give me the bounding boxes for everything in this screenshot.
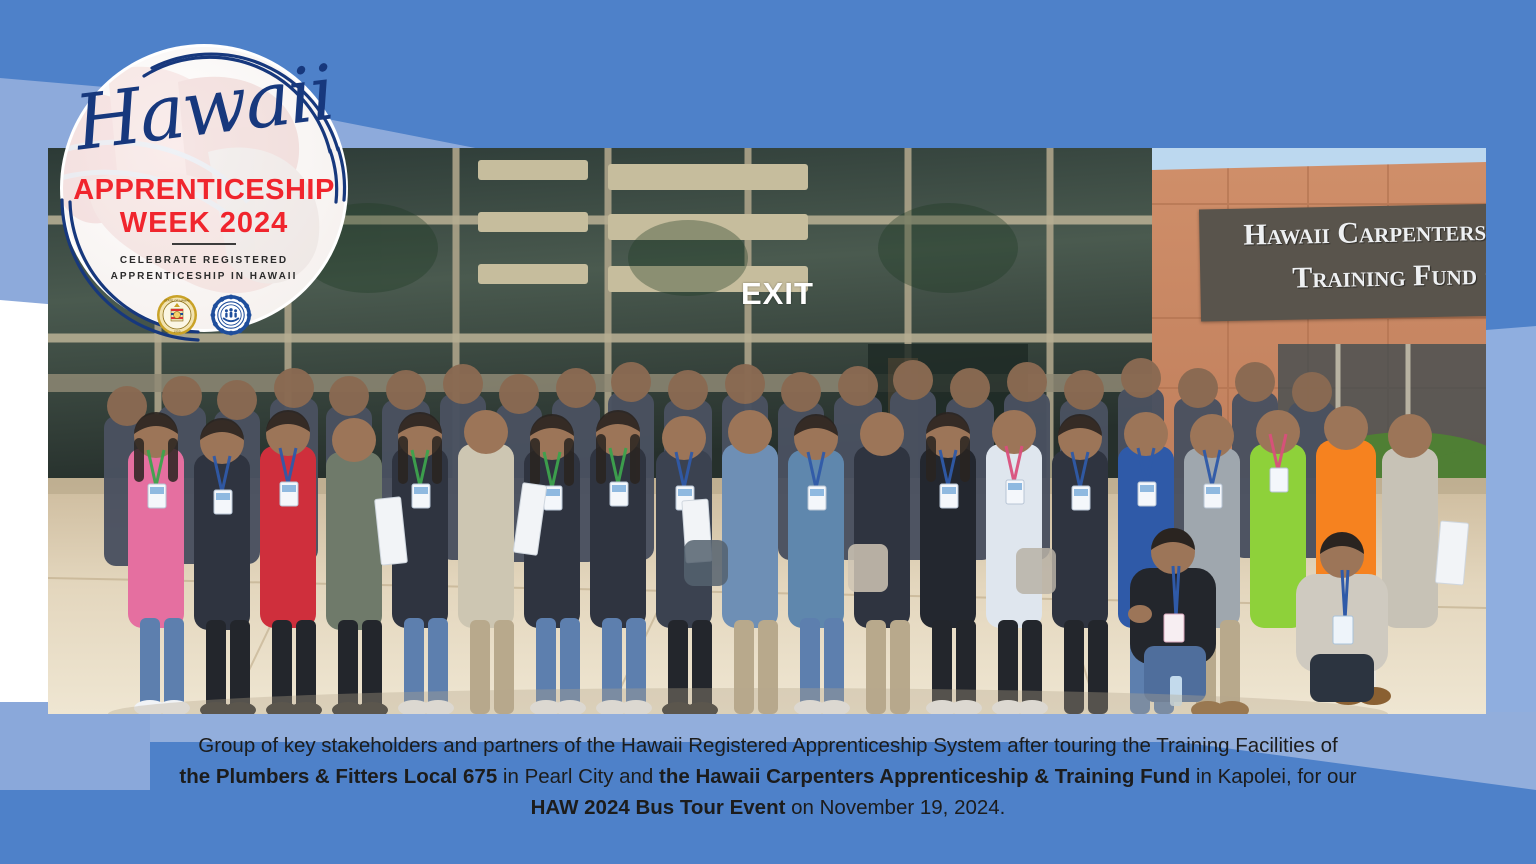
slide-canvas: EXIT Hawaii Carpenters and Training Fund… (0, 0, 1536, 864)
caption-line-1-text: Group of key stakeholders and partners o… (198, 734, 1337, 757)
caption-block: Group of key stakeholders and partners o… (0, 730, 1536, 823)
building-sign: Hawaii Carpenters and Training Fund Cen (1199, 203, 1486, 322)
hawaii-apprenticeship-week-logo: Hawaii APPRENTICESHIP WEEK 2024 CELEBRAT… (48, 32, 360, 344)
caption-event-name: HAW 2024 Bus Tour Event (531, 796, 786, 819)
caption-plumbers-local: the Plumbers & Fitters Local 675 (179, 765, 497, 788)
badge-background (48, 32, 360, 344)
caption-line-1: Group of key stakeholders and partners o… (60, 730, 1476, 761)
exit-sign-text: EXIT (741, 276, 814, 312)
caption-carpenters-fund: the Hawaii Carpenters Apprenticeship & T… (659, 765, 1190, 788)
caption-pearl-city: in Pearl City and (497, 765, 659, 788)
caption-line-3: HAW 2024 Bus Tour Event on November 19, … (60, 792, 1476, 823)
right-edge-blue-strip (1486, 326, 1536, 712)
building-sign-line-2: Training Fund Cen (1292, 257, 1486, 296)
building-sign-line-1: Hawaii Carpenters and (1243, 213, 1486, 253)
caption-event-date: on November 19, 2024. (785, 796, 1005, 819)
caption-kapolei: in Kapolei, for our (1190, 765, 1356, 788)
caption-line-2: the Plumbers & Fitters Local 675 in Pear… (60, 761, 1476, 792)
